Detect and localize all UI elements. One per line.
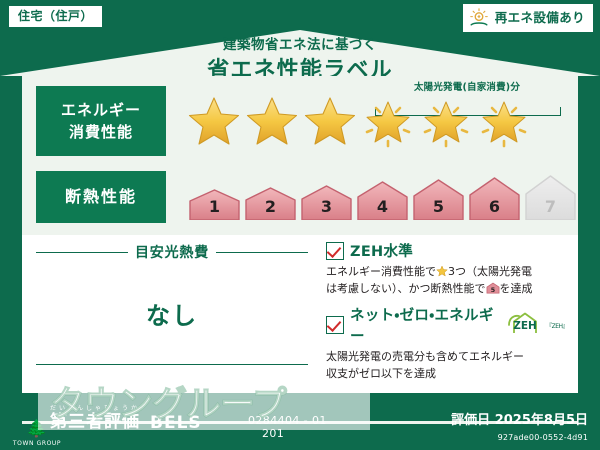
energy-performance-row: エネルギー 消費性能 太陽光発電(自家消費)分 — [22, 82, 578, 160]
town-group-logo-name: TOWN GROUP — [6, 440, 68, 447]
checkbox-checked-icon — [326, 316, 344, 334]
desc-prefix: エネルギー消費性能で — [326, 265, 436, 278]
zeh-standard-check: ZEH水準 — [326, 240, 568, 261]
mini-house-icon: 5 — [486, 281, 500, 295]
zeh-standard-title: ZEH水準 — [350, 240, 413, 261]
energy-performance-label: エネルギー 消費性能 — [36, 86, 166, 156]
star-filled — [302, 94, 358, 148]
building-type-pill: 住宅（住戸） — [9, 6, 102, 27]
certificate-id-line1: 0284404 - 01 — [248, 414, 327, 427]
checkbox-checked-icon — [326, 242, 344, 260]
certification-checks: ZEH水準 エネルギー消費性能で3つ（太陽光発電は考慮しない）、かつ断熱性能で5… — [326, 240, 568, 389]
evaluation-date-value: 2025年8月5日 — [495, 413, 588, 428]
star-solar — [476, 94, 532, 148]
evaluation-date-label: 評価日 — [451, 413, 490, 428]
utility-cost-value: なし — [36, 296, 308, 331]
insulation-level-2: 2 — [244, 186, 297, 220]
utility-cost-bottom-rule — [36, 364, 308, 365]
insulation-level-4: 4 — [356, 180, 409, 220]
utility-cost-heading: 目安光熱費 — [36, 242, 308, 262]
desc-mid: は考慮しない）、かつ断熱性能で — [326, 282, 486, 295]
solar-bracket-label: 太陽光発電(自家消費)分 — [375, 79, 559, 93]
document-uuid: 927ade00-0552-4d91 — [498, 433, 588, 442]
zeh-house-badge-icon: ZEH — [506, 311, 540, 339]
insulation-level-3: 3 — [300, 184, 353, 220]
insulation-level-1: 1 — [188, 188, 241, 220]
rule-right — [216, 252, 308, 253]
third-party-evaluation-text: 第三者評価 — [50, 407, 140, 432]
insulation-level-6: 6 — [468, 176, 521, 220]
utility-cost-heading-text: 目安光熱費 — [135, 242, 209, 262]
insulation-performance-row: 断熱性能 1 2 3 — [22, 168, 578, 226]
footer: 🌲 TOWN GROUP だいさんしゃひょうか 第三者評価 BELS 02844… — [0, 393, 600, 450]
evaluation-date: 評価日 2025年8月5日 — [451, 409, 588, 428]
main-panel: エネルギー 消費性能 太陽光発電(自家消費)分 — [22, 76, 578, 393]
star-solar — [418, 94, 474, 148]
nze-line-1: 太陽光発電の売電分も含めてエネルギー — [326, 350, 524, 363]
insulation-level-scale: 1 2 3 4 5 — [188, 174, 577, 220]
star-filled — [244, 94, 300, 148]
mini-star-icon — [436, 265, 448, 277]
net-zero-energy-check: ネット・ゼロ・エネルギー ZEH 『ZEH』 — [326, 304, 568, 346]
nze-line-2: 収支がゼロ以下を達成 — [326, 367, 436, 380]
insulation-level-7: 7 — [524, 174, 577, 220]
energy-star-rating: 太陽光発電(自家消費)分 — [186, 94, 532, 148]
svg-text:ZEH: ZEH — [513, 320, 537, 332]
insulation-performance-label: 断熱性能 — [36, 171, 166, 223]
zeh-standard-description: エネルギー消費性能で3つ（太陽光発電は考慮しない）、かつ断熱性能で5を達成 — [326, 263, 568, 297]
renewable-energy-badge-label: 再エネ設備あり — [495, 12, 585, 25]
utility-cost-section: 目安光熱費 なし — [36, 242, 308, 387]
insulation-level-5: 5 — [412, 178, 465, 220]
renewable-energy-badge: 再エネ設備あり — [463, 4, 593, 32]
rule-left — [36, 252, 128, 253]
zeh-badge-superscript: 『ZEH』 — [546, 321, 568, 330]
roof-shape — [0, 30, 600, 76]
star-filled — [186, 94, 242, 148]
label-root: 住宅（住戸） 再エネ設備あり 建築物省エネ法に基づく 省エネ性能ラベル — [0, 0, 600, 450]
star-solar — [360, 94, 416, 148]
desc-suffix: を達成 — [500, 282, 533, 295]
bels-text: BELS — [150, 413, 202, 433]
certificate-id-line2: 201 — [262, 427, 284, 440]
sun-icon — [468, 7, 490, 29]
net-zero-energy-title: ネット・ゼロ・エネルギー — [350, 304, 497, 346]
net-zero-energy-description: 太陽光発電の売電分も含めてエネルギー収支がゼロ以下を達成 — [326, 348, 568, 382]
desc-star-count: 3つ（太陽光発電 — [448, 265, 532, 278]
svg-text:5: 5 — [490, 287, 494, 294]
